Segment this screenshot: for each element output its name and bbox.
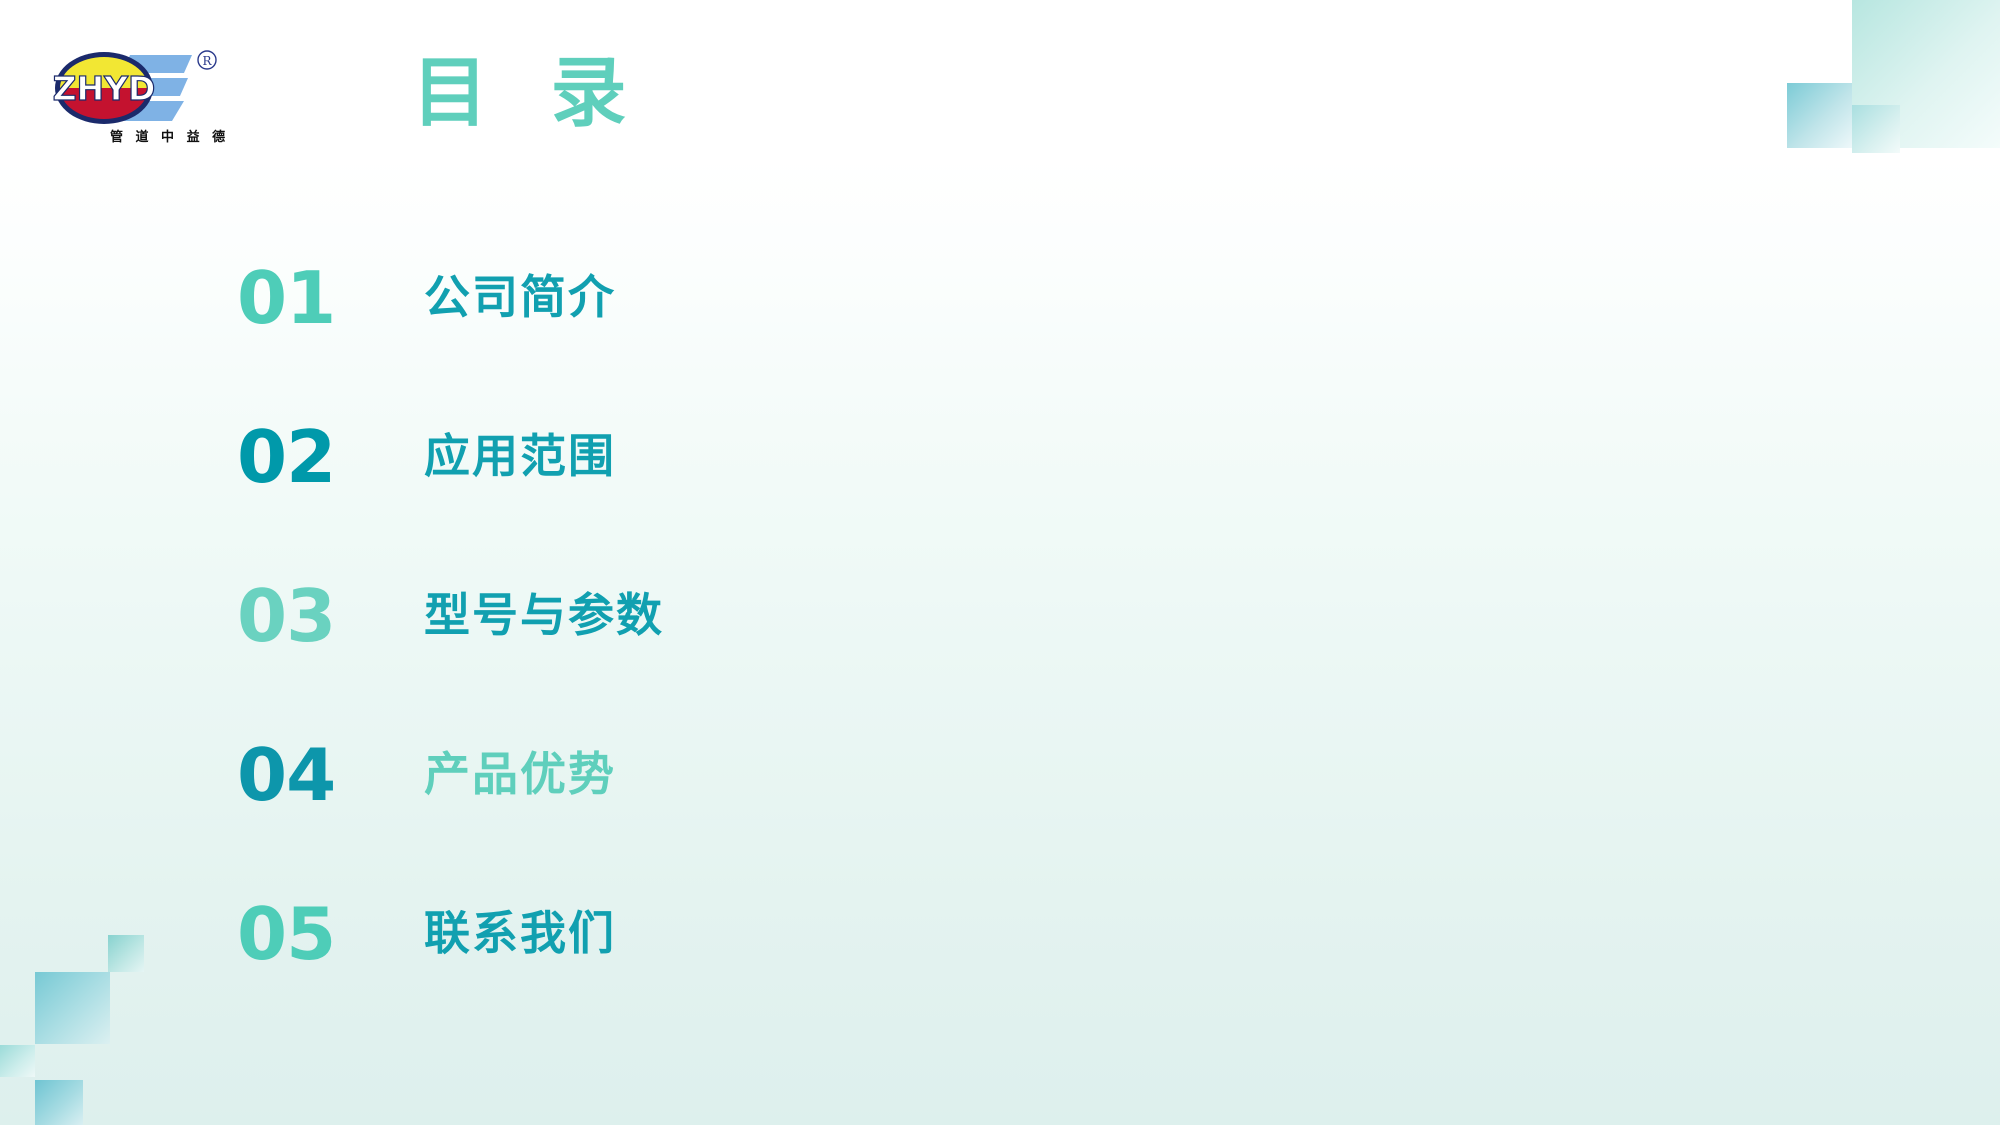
toc-item-label[interactable]: 型号与参数 bbox=[424, 592, 664, 638]
list-item[interactable]: 01 公司简介 bbox=[0, 262, 2000, 421]
toc-item-label[interactable]: 联系我们 bbox=[424, 910, 616, 956]
logo-wordmark: ZHYD bbox=[53, 69, 156, 108]
decorative-square-top-right-large bbox=[1852, 0, 2000, 148]
toc-item-number: 02 bbox=[237, 421, 335, 493]
list-item[interactable]: 02 应用范围 bbox=[0, 421, 2000, 580]
slide-canvas: ZHYD R 管 道 中 益 德 目 录 01 公司简介 02 应用范围 03 … bbox=[0, 0, 2000, 1125]
registered-trademark-icon: R bbox=[198, 51, 216, 69]
logo-tagline: 管 道 中 益 德 bbox=[110, 126, 229, 145]
decorative-square-top-right-small bbox=[1852, 105, 1900, 153]
toc-item-number: 03 bbox=[237, 580, 335, 652]
toc-item-label[interactable]: 应用范围 bbox=[424, 433, 616, 479]
decorative-square-bottom-left-bottom bbox=[35, 1080, 83, 1125]
list-item[interactable]: 05 联系我们 bbox=[0, 898, 2000, 1057]
toc-item-number: 01 bbox=[237, 262, 335, 334]
toc-item-label[interactable]: 公司简介 bbox=[424, 274, 616, 320]
toc-item-number: 04 bbox=[237, 739, 335, 811]
page-title: 目 录 bbox=[412, 55, 644, 131]
toc-item-number: 05 bbox=[237, 898, 335, 970]
list-item[interactable]: 04 产品优势 bbox=[0, 739, 2000, 898]
toc-item-label[interactable]: 产品优势 bbox=[424, 751, 616, 797]
svg-text:R: R bbox=[202, 54, 212, 68]
company-logo: ZHYD R 管 道 中 益 德 bbox=[52, 38, 232, 153]
table-of-contents-list: 01 公司简介 02 应用范围 03 型号与参数 04 产品优势 05 联系我们 bbox=[0, 262, 2000, 1057]
list-item[interactable]: 03 型号与参数 bbox=[0, 580, 2000, 739]
decorative-square-top-right-medium bbox=[1787, 83, 1852, 148]
